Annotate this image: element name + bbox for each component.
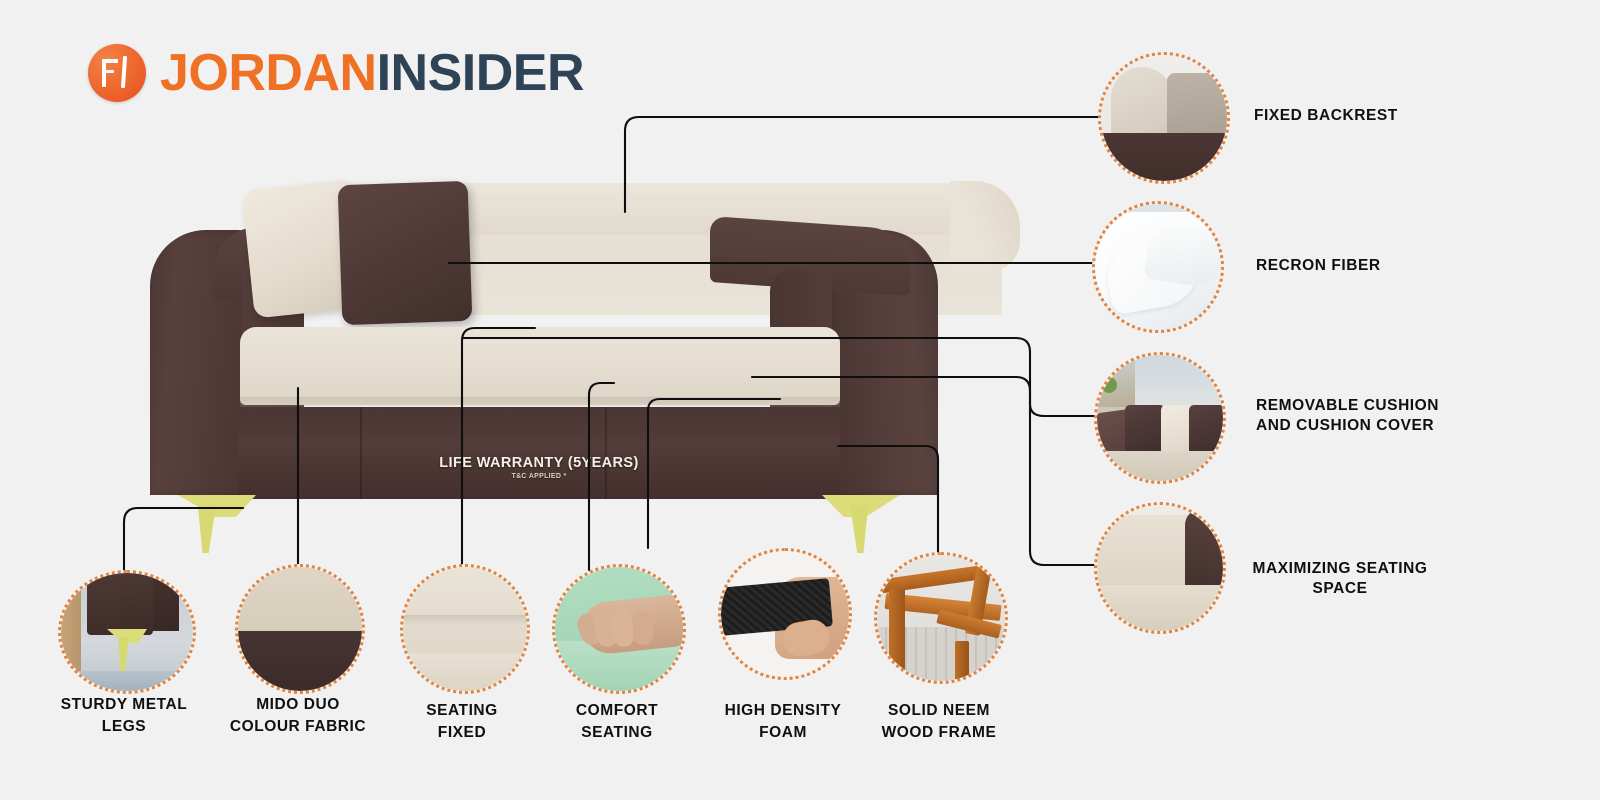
label-solid-neem-frame: SOLID NEEM WOOD FRAME — [858, 700, 1020, 744]
thumb-high-density-foam[interactable] — [718, 548, 852, 680]
label-sturdy-metal-legs: STURDY METAL LEGS — [40, 694, 208, 738]
sofa-leg-left — [178, 495, 256, 517]
thumb-recron-fiber[interactable] — [1092, 201, 1224, 333]
thumb-fixed-backrest[interactable] — [1098, 52, 1230, 184]
sofa-product-image: LIFE WARRANTY (5YEARS) T&C APPLIED * — [150, 175, 940, 505]
brand-logo: JORDANINSIDER — [88, 44, 584, 102]
brand-wordmark: JORDANINSIDER — [160, 47, 584, 99]
label-fixed-backrest: FIXED BACKREST — [1254, 106, 1398, 126]
thumb-solid-neem-frame[interactable] — [874, 552, 1008, 684]
label-seating-fixed: SEATING FIXED — [385, 700, 539, 744]
infographic-canvas: JORDANINSIDER LIFE WARRANTY (5YEARS) T&C… — [0, 0, 1600, 800]
label-high-density-foam: HIGH DENSITY FOAM — [700, 700, 866, 744]
thumb-mido-duo-fabric[interactable] — [235, 564, 365, 694]
warranty-sub-text: T&C APPLIED * — [238, 473, 840, 480]
label-removable-cushion: REMOVABLE CUSHION AND CUSHION COVER — [1256, 396, 1439, 437]
warranty-badge: LIFE WARRANTY (5YEARS) T&C APPLIED * — [238, 455, 840, 495]
brand-word-insider: INSIDER — [377, 44, 584, 102]
thumb-comfort-seating[interactable] — [552, 564, 686, 694]
thumb-seating-fixed[interactable] — [400, 564, 530, 694]
thumb-sturdy-metal-legs[interactable] — [58, 570, 196, 694]
sofa-seat-cushion — [240, 327, 840, 405]
connector-sturdy-metal-legs — [124, 508, 243, 570]
thumb-maximizing-space[interactable] — [1094, 502, 1226, 634]
label-mido-duo-fabric: MIDO DUO COLOUR FABRIC — [205, 694, 391, 738]
fi-monogram-icon — [88, 44, 146, 102]
brand-word-jordan: JORDAN — [160, 44, 377, 102]
label-maximizing-space: MAXIMIZING SEATING SPACE — [1247, 559, 1433, 600]
label-recron-fiber: RECRON FIBER — [1256, 256, 1381, 276]
warranty-main-text: LIFE WARRANTY (5YEARS) — [238, 455, 840, 471]
thumb-removable-cushion[interactable] — [1094, 352, 1226, 484]
sofa-cushion-dark — [338, 181, 473, 325]
label-comfort-seating: COMFORT SEATING — [540, 700, 694, 744]
